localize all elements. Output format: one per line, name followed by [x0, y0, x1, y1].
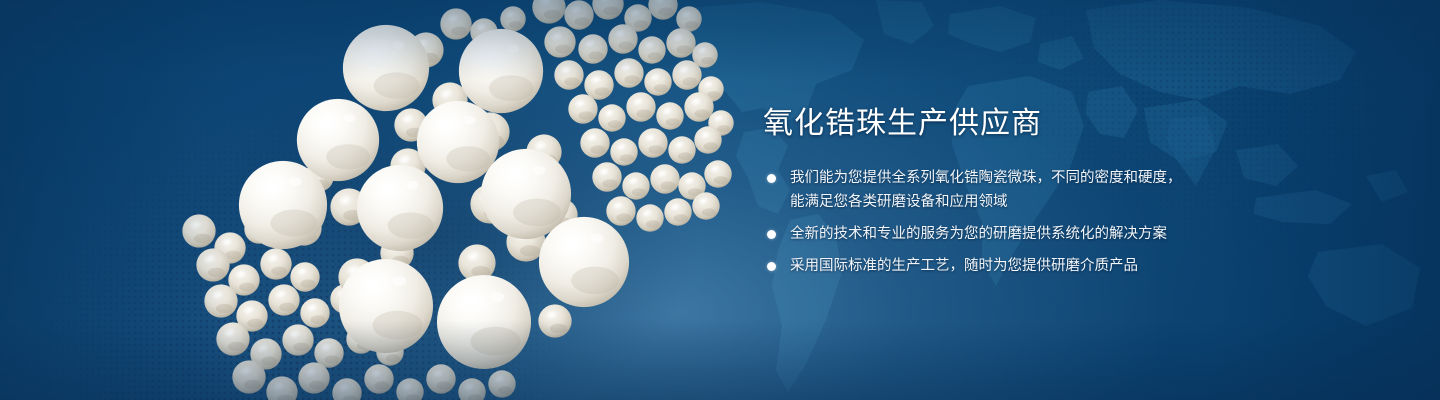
bullet-dot-icon [767, 174, 776, 183]
banner-headline: 氧化锆珠生产供应商 [763, 104, 1323, 144]
banner-copy: 氧化锆珠生产供应商 我们能为您提供全系列氧化锆陶瓷微珠，不同的密度和硬度， 能满… [763, 104, 1323, 278]
bullet-dot-icon [767, 262, 776, 271]
bullet-dot-icon [767, 230, 776, 239]
bullet-text-line: 我们能为您提供全系列氧化锆陶瓷微珠，不同的密度和硬度， [790, 166, 1323, 190]
bullet-text-line: 能满足您各类研磨设备和应用领域 [790, 190, 1323, 214]
bullet-text-line: 采用国际标准的生产工艺，随时为您提供研磨介质产品 [790, 254, 1323, 278]
zirconia-beads-image [140, 0, 740, 400]
benefits-list: 我们能为您提供全系列氧化锆陶瓷微珠，不同的密度和硬度， 能满足您各类研磨设备和应… [763, 166, 1323, 278]
list-item: 我们能为您提供全系列氧化锆陶瓷微珠，不同的密度和硬度， 能满足您各类研磨设备和应… [763, 166, 1323, 214]
bullet-text-line: 全新的技术和专业的服务为您的研磨提供系统化的解决方案 [790, 222, 1323, 246]
hero-banner: 氧化锆珠生产供应商 我们能为您提供全系列氧化锆陶瓷微珠，不同的密度和硬度， 能满… [0, 0, 1440, 400]
list-item: 全新的技术和专业的服务为您的研磨提供系统化的解决方案 [763, 222, 1323, 246]
list-item: 采用国际标准的生产工艺，随时为您提供研磨介质产品 [763, 254, 1323, 278]
